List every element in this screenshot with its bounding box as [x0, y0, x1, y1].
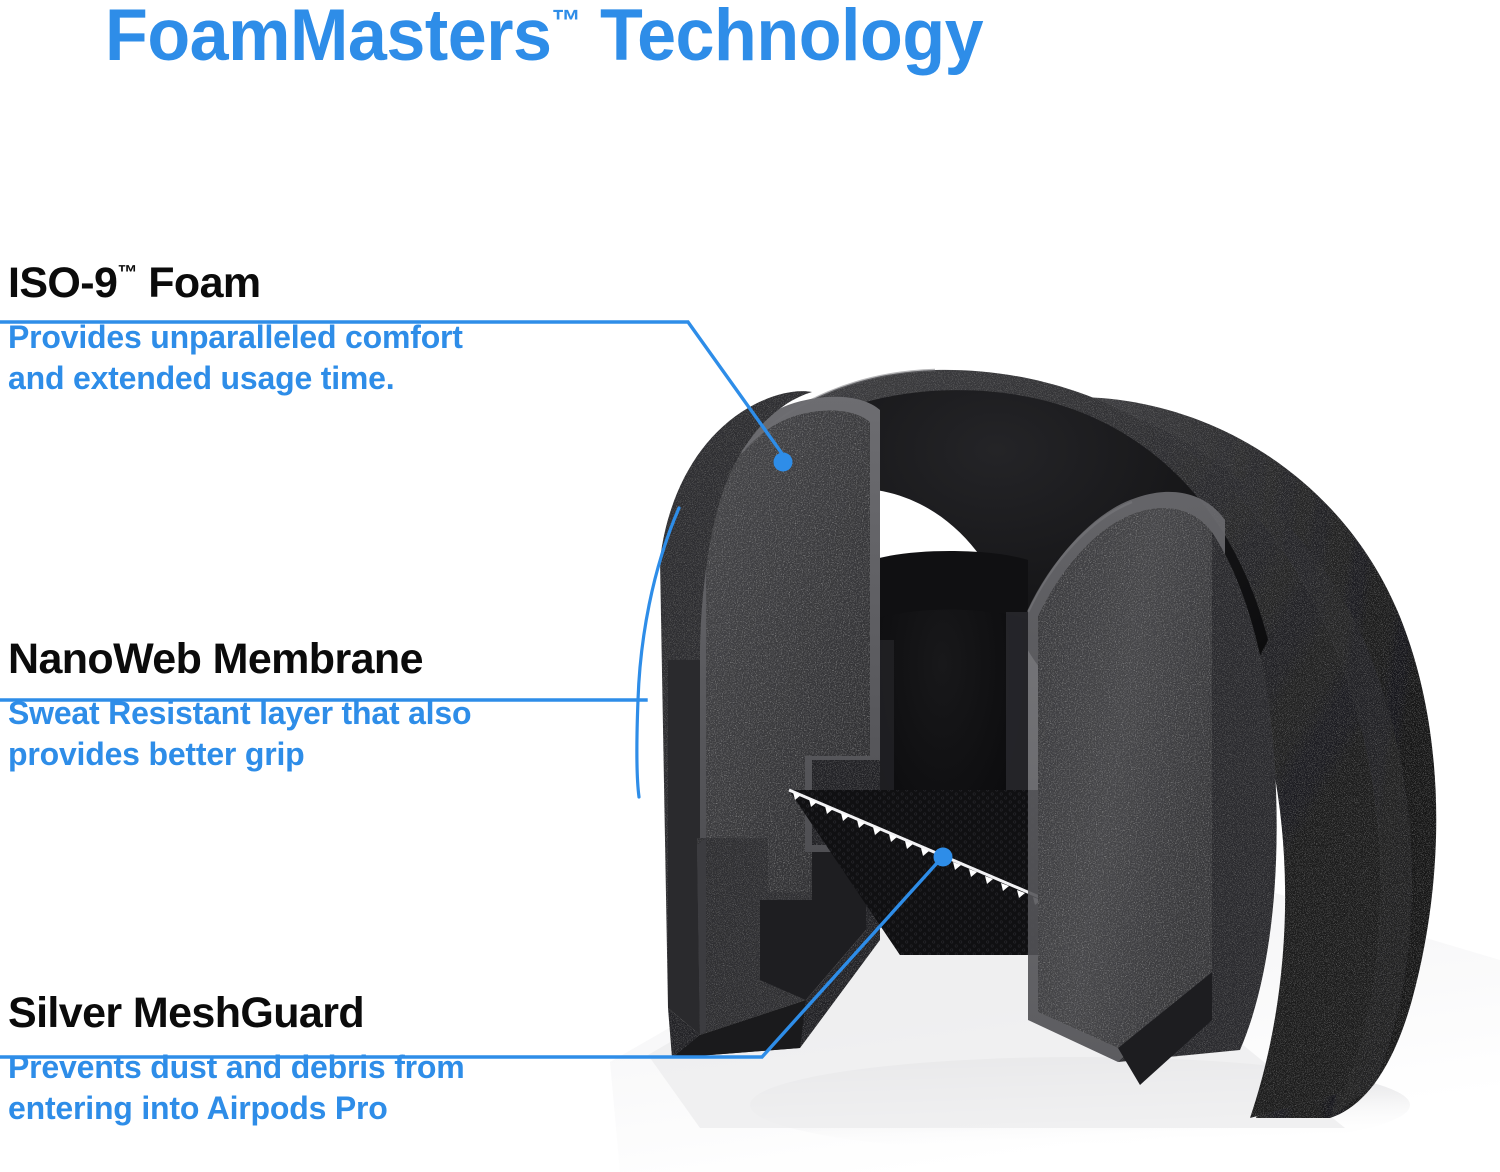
callout-description-line: entering into Airpods Pro [8, 1088, 465, 1129]
page-title: FoamMasters™ Technology [105, 0, 983, 77]
callout-heading-main: NanoWeb Membrane [8, 635, 423, 683]
callout-nanoweb-membrane: NanoWeb Membrane Sweat Resistant layer t… [8, 638, 471, 775]
trademark-symbol: ™ [117, 262, 137, 284]
callout-heading: Silver MeshGuard [8, 992, 465, 1035]
callout-heading-suffix: Foam [137, 259, 261, 307]
callout-description-line: Provides unparalleled comfort [8, 317, 463, 358]
callout-description-line: Sweat Resistant layer that also [8, 693, 471, 734]
page-title-suffix: Technology [581, 0, 983, 76]
callout-heading-main: ISO-9 [8, 259, 117, 307]
callout-silver-meshguard: Silver MeshGuard Prevents dust and debri… [8, 992, 465, 1129]
callout-description-line: and extended usage time. [8, 358, 463, 399]
trademark-symbol: ™ [552, 4, 581, 38]
callout-description: Provides unparalleled comfort and extend… [8, 317, 463, 399]
callout-heading-main: Silver MeshGuard [8, 989, 364, 1037]
callout-iso9-foam: ISO-9™ Foam Provides unparalleled comfor… [8, 262, 463, 399]
callout-heading: ISO-9™ Foam [8, 262, 463, 305]
callout-description: Prevents dust and debris from entering i… [8, 1047, 465, 1129]
callout-heading: NanoWeb Membrane [8, 638, 471, 681]
callout-description-line: Prevents dust and debris from [8, 1047, 465, 1088]
page-title-main: FoamMasters [105, 0, 552, 76]
foammasters-technology-infographic: FoamMasters™ Technology ISO-9™ Foam Prov… [0, 0, 1500, 1172]
callout-description: Sweat Resistant layer that also provides… [8, 693, 471, 775]
callout-description-line: provides better grip [8, 734, 471, 775]
